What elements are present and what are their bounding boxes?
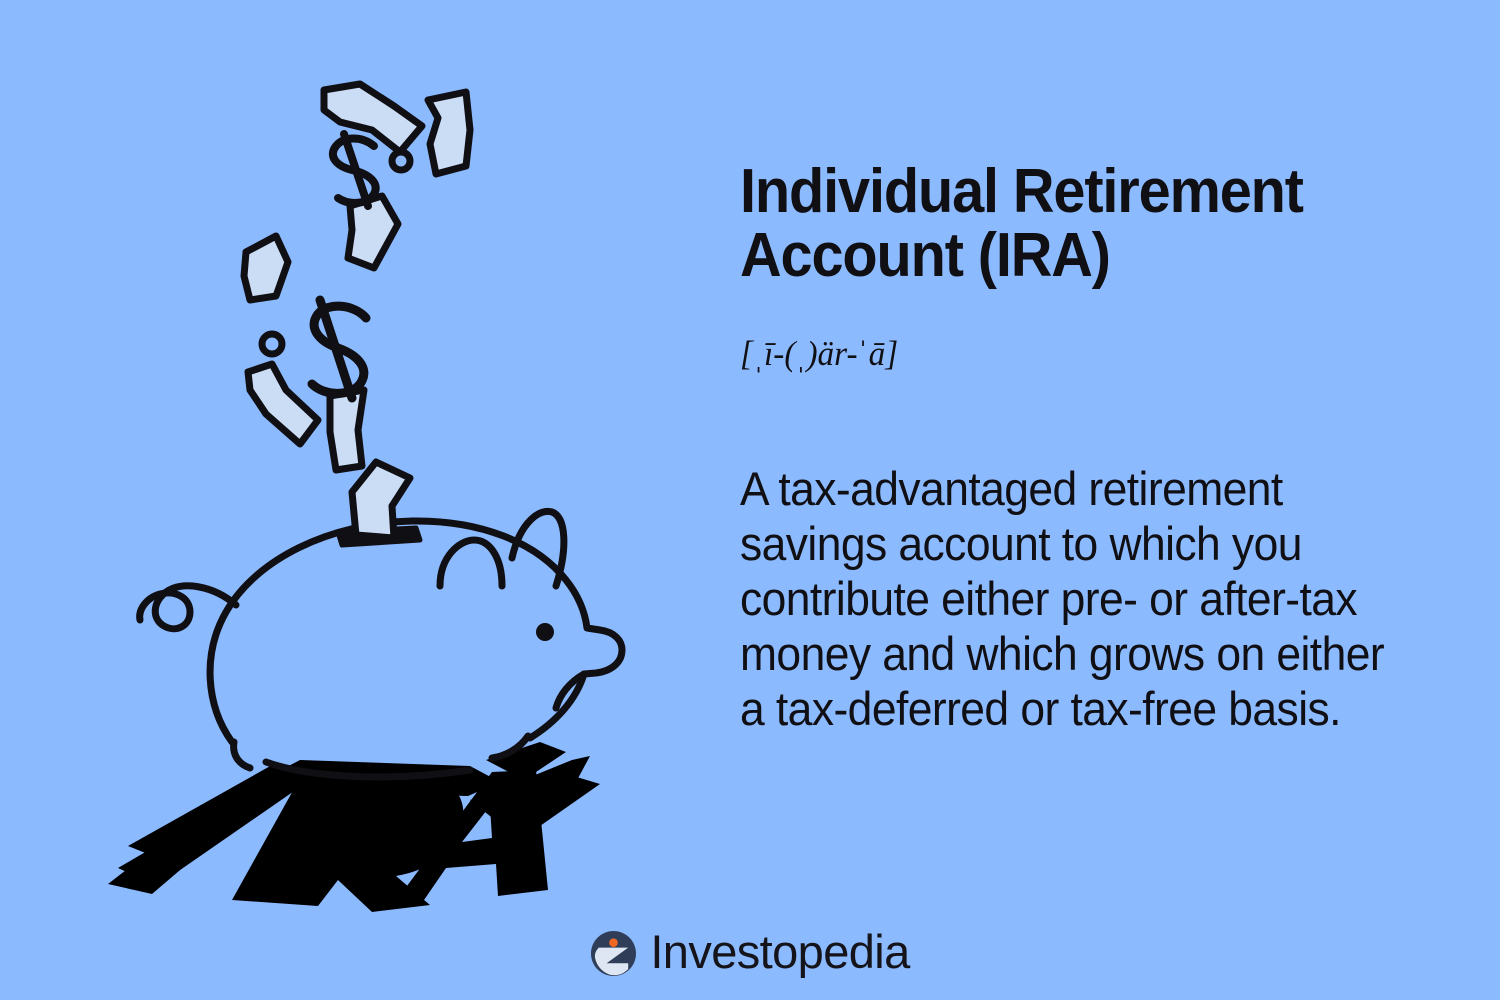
piggy-eye <box>536 623 554 641</box>
brand-name: Investopedia <box>650 928 909 975</box>
definition-text-column: Individual Retirement Account (IRA) [ˌī-… <box>740 0 1440 1000</box>
piggy-outer-ear <box>512 511 564 586</box>
banknote-mid-left <box>244 236 288 300</box>
piggy-rear-leg <box>234 742 250 768</box>
banknote-top-right <box>428 92 470 174</box>
page-title: Individual Retirement Account (IRA) <box>740 160 1391 288</box>
ira-shadow-group <box>108 742 600 912</box>
dollar-sign-upper <box>333 134 376 206</box>
pronunciation: [ˌī-(ˌ)är-ˈā] <box>740 336 898 371</box>
coin-lower <box>262 334 282 354</box>
piggy-body-group <box>140 511 622 777</box>
coin-upper <box>392 152 410 170</box>
banknote-mid-lower <box>330 390 364 470</box>
definition-text: A tax-advantaged retirement savings acco… <box>740 462 1402 737</box>
piggy-bank-illustration-svg <box>0 0 700 1000</box>
piggy-bank-illustration <box>0 0 700 1000</box>
definition-card: Individual Retirement Account (IRA) [ˌī-… <box>0 0 1500 1000</box>
piggy-inner-ear <box>440 540 502 586</box>
dollar-sign-lower <box>312 300 366 398</box>
falling-money-group <box>244 84 470 538</box>
banknote-lower-left <box>248 364 318 444</box>
brand-footer: Investopedia <box>0 918 1500 988</box>
investopedia-logo-icon <box>590 930 637 977</box>
